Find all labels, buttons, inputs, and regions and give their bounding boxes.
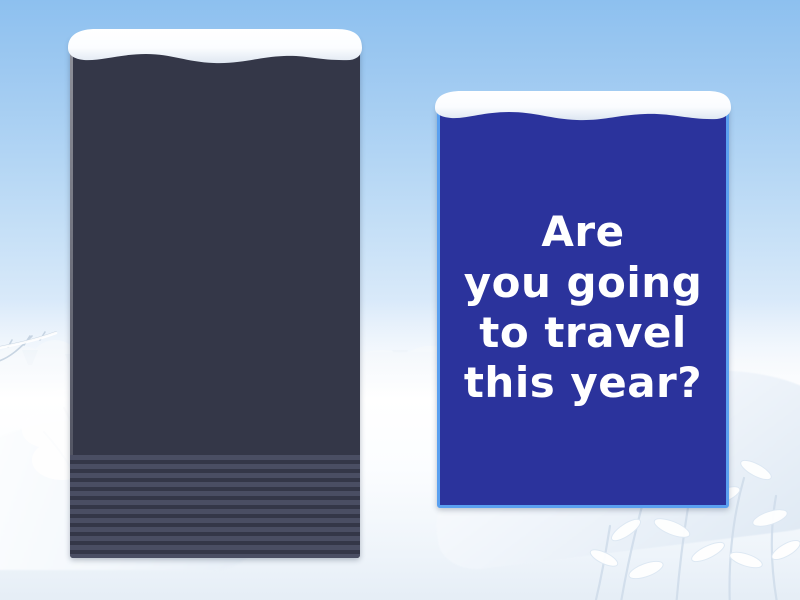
answer-card[interactable] <box>70 38 360 558</box>
question-text: Are you going to travel this year? <box>454 207 713 409</box>
game-stage: Are you going to travel this year? <box>0 0 800 600</box>
question-card[interactable]: Are you going to travel this year? <box>437 104 729 508</box>
answer-card-text <box>70 38 360 558</box>
